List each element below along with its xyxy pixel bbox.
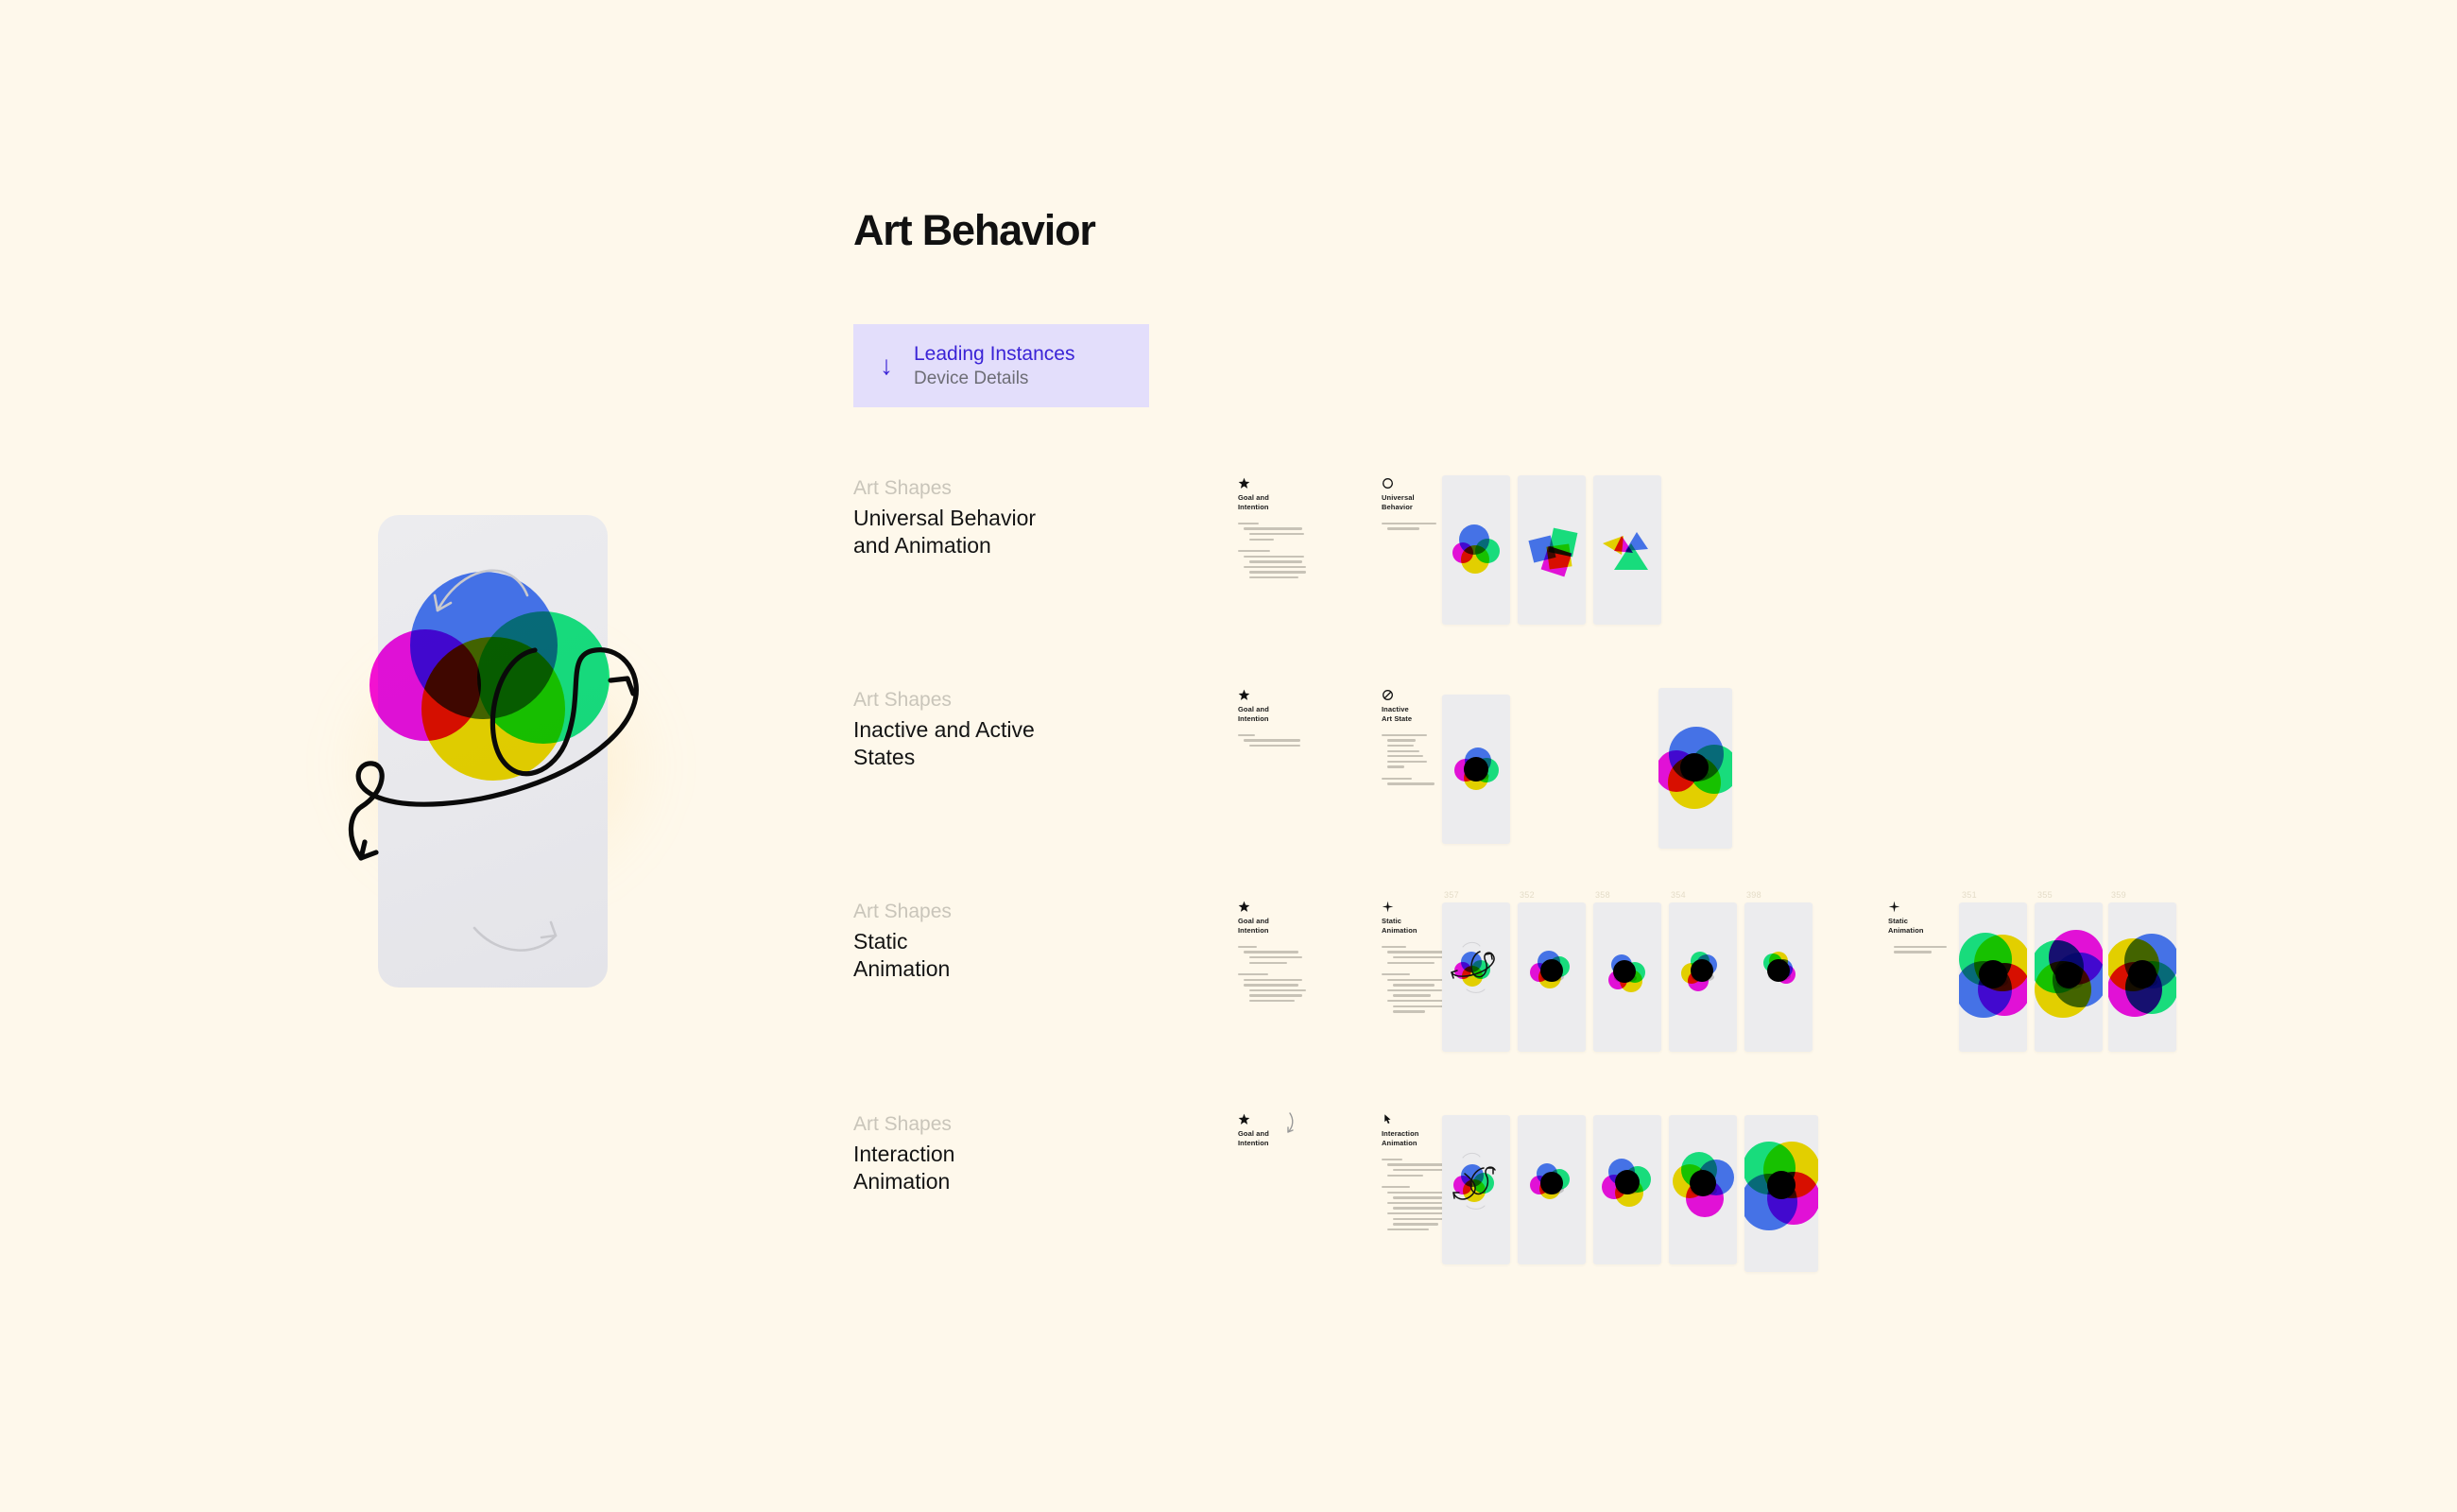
note-goal-and-intention: Goal and Intention bbox=[1238, 689, 1351, 750]
note-head-line1: Goal and bbox=[1238, 917, 1351, 926]
section-label-interaction-animation: Art Shapes Interaction Animation bbox=[853, 1113, 1165, 1196]
section-title-line1: Interaction bbox=[853, 1141, 1165, 1168]
phone-card-bloom-0[interactable] bbox=[1959, 902, 2027, 1052]
section-label-inactive-active-states: Art Shapes Inactive and Active States bbox=[853, 689, 1165, 772]
card-number: 352 bbox=[1520, 890, 1535, 900]
page-title: Art Behavior bbox=[853, 206, 1095, 255]
note-head-line2: Intention bbox=[1238, 926, 1351, 936]
card-number: 355 bbox=[2037, 890, 2053, 900]
card-number: 354 bbox=[1671, 890, 1686, 900]
star-icon bbox=[1238, 1113, 1250, 1125]
section-label-universal-behavior: Art Shapes Universal Behavior and Animat… bbox=[853, 477, 1165, 560]
phone-card-triangles[interactable] bbox=[1593, 475, 1661, 625]
hero-annotation-arrows bbox=[312, 491, 690, 1021]
phone-card-inactive-state[interactable] bbox=[1442, 695, 1510, 844]
arrow-down-icon: ↓ bbox=[880, 352, 893, 379]
card-number: 359 bbox=[2111, 890, 2126, 900]
note-body bbox=[1238, 734, 1351, 747]
phone-card-squiggle[interactable] bbox=[1442, 902, 1510, 1052]
callout-secondary-label: Device Details bbox=[914, 369, 1074, 389]
phone-card-scale-2[interactable] bbox=[1669, 1115, 1737, 1264]
note-body bbox=[1238, 946, 1351, 1003]
loop-arrow-icon bbox=[351, 650, 636, 858]
phone-card-scale-1[interactable] bbox=[1593, 1115, 1661, 1264]
note-head-line1: Goal and bbox=[1238, 493, 1351, 503]
section-title-line2: and Animation bbox=[853, 532, 1165, 559]
phone-card-scale-3[interactable] bbox=[1744, 1115, 1818, 1272]
pointer-icon bbox=[1382, 1113, 1394, 1125]
phone-card-rotate-2[interactable] bbox=[1669, 902, 1737, 1052]
phone-card-squares[interactable] bbox=[1518, 475, 1586, 625]
star-icon bbox=[1238, 901, 1250, 913]
card-number: 357 bbox=[1444, 890, 1459, 900]
note-head-line2: Intention bbox=[1238, 1139, 1351, 1148]
hook-arrow-icon bbox=[1280, 1111, 1299, 1136]
art-behavior-hero-illustration bbox=[312, 491, 690, 1021]
circle-icon bbox=[1382, 477, 1394, 490]
section-title-line2: Animation bbox=[853, 1168, 1165, 1195]
section-title-line2: States bbox=[853, 744, 1165, 771]
design-board: Art Behavior ↓ Leading Instances Device … bbox=[0, 0, 2457, 1512]
no-entry-icon bbox=[1382, 689, 1394, 701]
section-title-line1: Universal Behavior bbox=[853, 505, 1165, 532]
phone-card-squiggle-interaction[interactable] bbox=[1442, 1115, 1510, 1264]
phone-card-scale-0[interactable] bbox=[1518, 1115, 1586, 1264]
curved-arrow-bottom-icon bbox=[474, 922, 556, 951]
section-title-line1: Inactive and Active bbox=[853, 716, 1165, 744]
sparkle-icon bbox=[1382, 901, 1394, 913]
section-title-line2: Animation bbox=[853, 955, 1165, 983]
phone-card-active-state[interactable] bbox=[1658, 688, 1732, 849]
section-eyebrow: Art Shapes bbox=[853, 689, 1165, 712]
note-goal-and-intention: Goal and Intention bbox=[1238, 477, 1351, 582]
section-eyebrow: Art Shapes bbox=[853, 901, 1165, 923]
phone-card-circles[interactable] bbox=[1442, 475, 1510, 625]
card-number: 358 bbox=[1595, 890, 1610, 900]
card-number: 398 bbox=[1746, 890, 1761, 900]
card-number: 351 bbox=[1962, 890, 1977, 900]
star-icon bbox=[1238, 477, 1250, 490]
phone-card-rotate-1[interactable] bbox=[1593, 902, 1661, 1052]
star-icon bbox=[1238, 689, 1250, 701]
callout-primary-label: Leading Instances bbox=[914, 343, 1074, 366]
phone-card-bloom-2[interactable] bbox=[2108, 902, 2176, 1052]
note-head-line1: Goal and bbox=[1238, 705, 1351, 714]
section-eyebrow: Art Shapes bbox=[853, 477, 1165, 500]
section-title-line1: Static bbox=[853, 928, 1165, 955]
sparkle-icon bbox=[1888, 901, 1900, 913]
note-head-line2: Intention bbox=[1238, 714, 1351, 724]
phone-card-rotate-0[interactable] bbox=[1518, 902, 1586, 1052]
phone-card-bloom-1[interactable] bbox=[2035, 902, 2103, 1052]
note-goal-and-intention: Goal and Intention bbox=[1238, 901, 1351, 1005]
note-head-line2: Intention bbox=[1238, 503, 1351, 512]
note-body bbox=[1238, 523, 1351, 579]
leading-instances-callout[interactable]: ↓ Leading Instances Device Details bbox=[853, 324, 1149, 407]
section-label-static-animation: Art Shapes Static Animation bbox=[853, 901, 1165, 984]
phone-card-rotate-3[interactable] bbox=[1744, 902, 1813, 1052]
section-eyebrow: Art Shapes bbox=[853, 1113, 1165, 1136]
curved-arrow-top-icon bbox=[435, 571, 527, 610]
